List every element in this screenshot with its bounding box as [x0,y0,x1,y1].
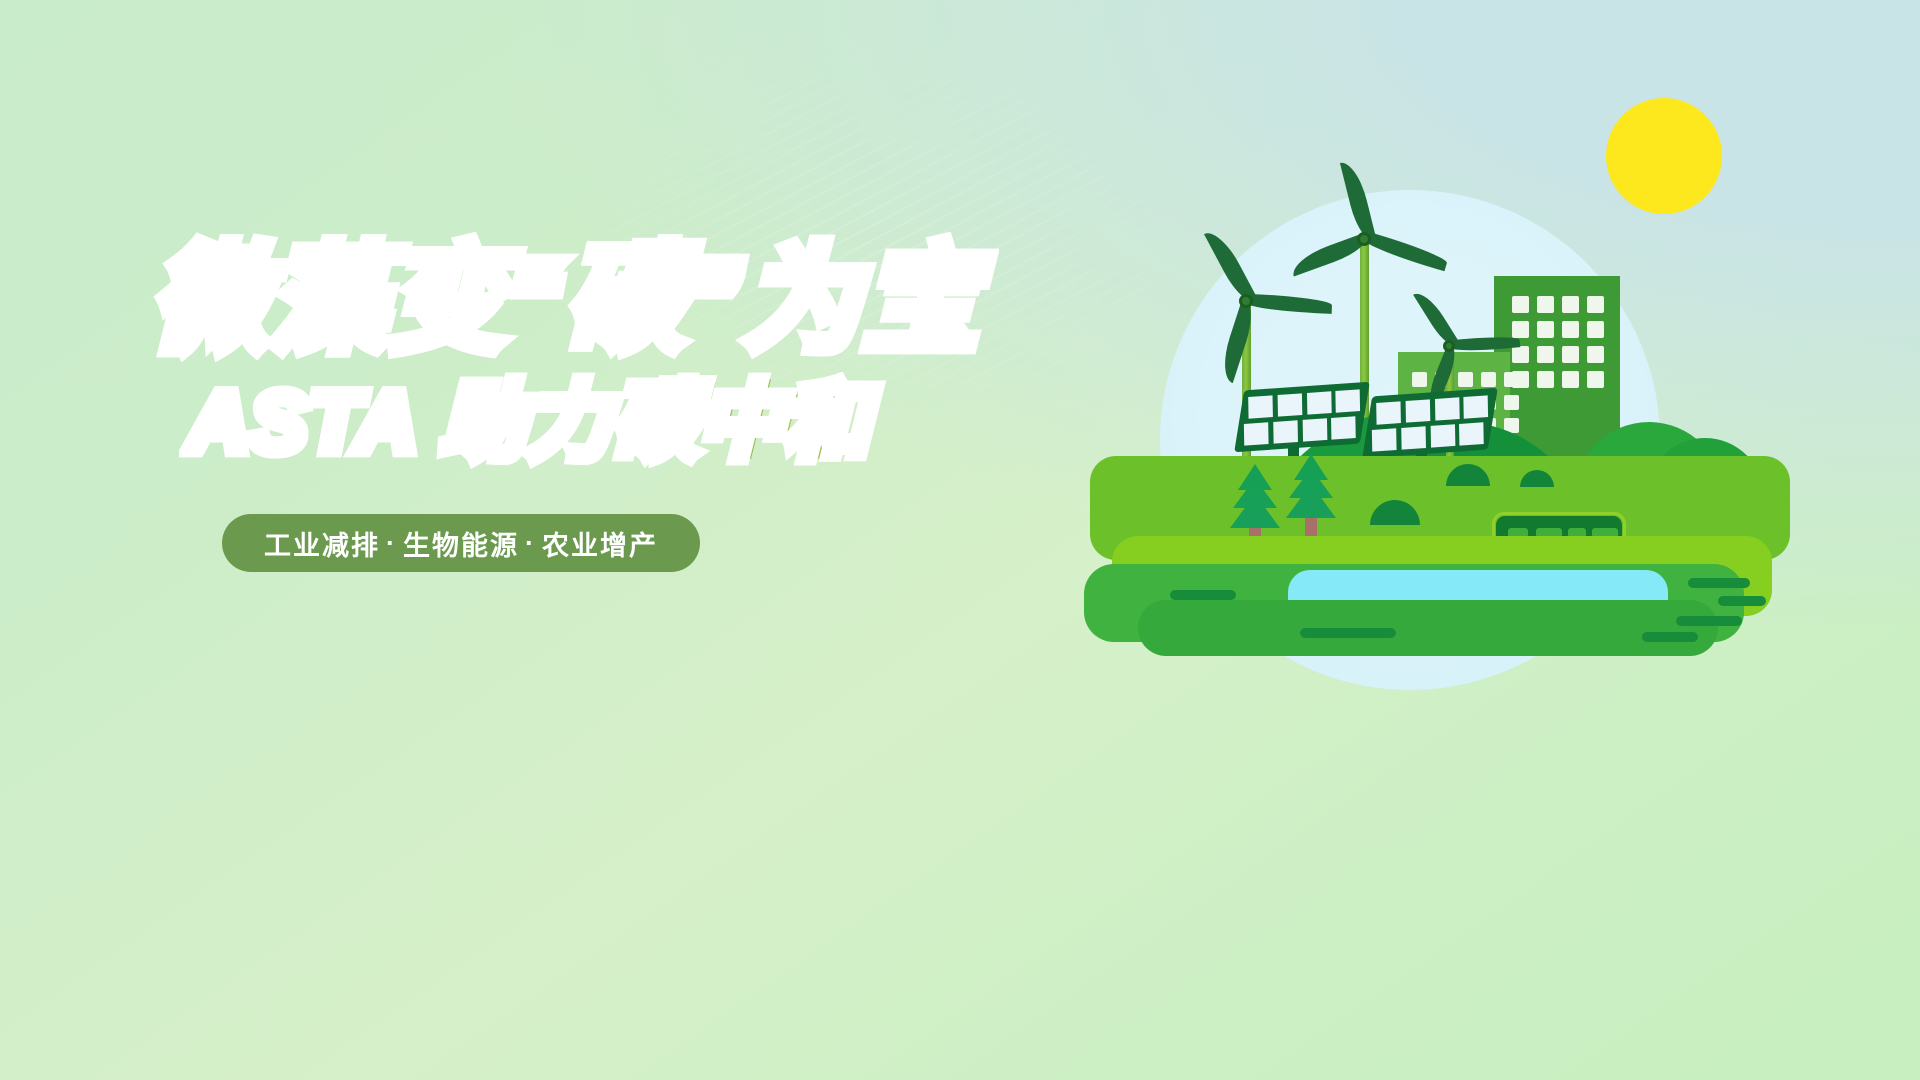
window [1537,296,1554,313]
turbine-hub [1443,340,1455,352]
solar-cell [1331,416,1355,439]
tagline-item-2: 生物能源 [403,524,519,563]
window [1412,372,1427,387]
eco-city-illustration [1090,70,1810,770]
grass-dash [1300,628,1396,638]
solar-cell [1401,426,1425,449]
sun-icon [1606,98,1722,214]
solar-cell [1302,418,1326,441]
page-title-primary: 微藻变“碳”为宝 [152,236,840,368]
solar-cell [1273,420,1297,443]
window [1562,296,1579,313]
building-tall-window-grid [1512,296,1604,388]
solar-cell [1248,395,1272,418]
headline-block: 微藻变“碳”为宝 ASTA 助力碳中和 工业减排 · 生物能源 · 农业增产 [140,236,840,572]
tree-foliage [1238,464,1272,490]
tagline-separator-2: · [519,528,542,559]
tagline-badge: 工业减排 · 生物能源 · 农业增产 [222,514,700,572]
eco-banner: 微藻变“碳”为宝 ASTA 助力碳中和 工业减排 · 生物能源 · 农业增产 [0,0,1920,1080]
tree-foliage [1294,454,1328,480]
solar-cell [1244,422,1268,445]
window [1512,296,1529,313]
solar-panel-right-icon [1368,392,1492,454]
grass-dash [1642,632,1698,642]
turbine-hub [1239,294,1253,308]
solar-cell [1306,391,1330,414]
ground-layer-bottom [1138,600,1718,656]
solar-cell [1459,422,1483,445]
window [1562,321,1579,338]
solar-cell [1336,389,1360,412]
grass-dash [1170,590,1236,600]
window [1587,296,1604,313]
window [1504,372,1519,387]
window [1504,395,1519,410]
window [1537,371,1554,388]
solar-cell [1464,395,1488,418]
solar-panel-surface [1362,388,1498,458]
window [1587,371,1604,388]
solar-panel-surface [1234,382,1370,452]
window [1512,346,1529,363]
grass-dash [1718,596,1766,606]
window [1537,346,1554,363]
solar-cell [1430,424,1454,447]
window [1562,371,1579,388]
window [1562,346,1579,363]
window [1587,346,1604,363]
solar-panel-left-icon [1240,386,1364,448]
window [1587,321,1604,338]
tagline-separator-1: · [380,528,403,559]
solar-cell [1372,428,1396,451]
window [1537,321,1554,338]
window [1481,372,1496,387]
window [1458,372,1473,387]
solar-cell [1277,393,1301,416]
grass-dash [1688,578,1750,588]
window [1512,321,1529,338]
solar-cell [1405,399,1429,422]
solar-cell [1434,397,1458,420]
solar-cell [1376,401,1400,424]
tagline-item-1: 工业减排 [264,524,380,563]
turbine-hub [1357,232,1371,246]
tagline-item-3: 农业增产 [542,524,658,563]
grass-dash [1676,616,1742,626]
page-title-secondary: ASTA 助力碳中和 [188,374,840,474]
